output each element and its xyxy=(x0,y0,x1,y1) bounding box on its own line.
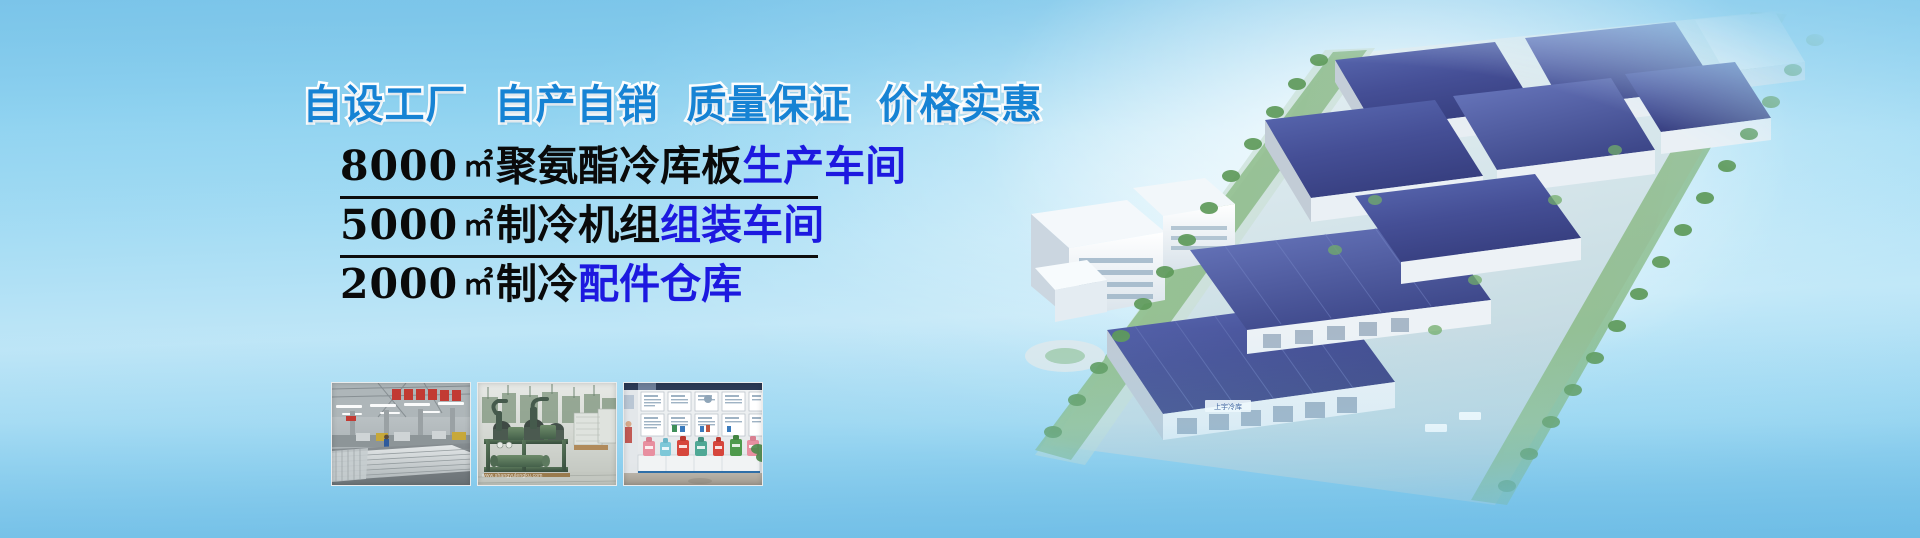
feature-3-unit: ㎡ xyxy=(458,267,496,302)
feature-line-2: 5000㎡制冷机组组装车间 xyxy=(340,202,860,253)
feature-1-blue-text: 生产车间 xyxy=(742,142,906,190)
feature-divider-1 xyxy=(340,196,818,199)
feature-3-number: 2000 xyxy=(340,260,458,308)
feature-1-black-text: 聚氨酯冷库板 xyxy=(496,142,742,190)
photo-parts-warehouse xyxy=(623,382,763,486)
feature-list: 8000㎡聚氨酯冷库板生产车间 5000㎡制冷机组组装车间 2000㎡制冷配件仓… xyxy=(340,143,860,312)
feature-1-unit: ㎡ xyxy=(458,149,496,184)
feature-1-number: 8000 xyxy=(340,142,458,190)
feature-2-number: 5000 xyxy=(340,201,458,249)
feature-divider-2 xyxy=(340,255,818,258)
headline-segment-4: 价格实惠 xyxy=(879,72,1043,130)
svg-text:上宇冷库: 上宇冷库 xyxy=(1214,402,1242,411)
feature-2-blue-text: 组装车间 xyxy=(660,201,824,249)
feature-line-3: 2000㎡制冷配件仓库 xyxy=(340,261,860,312)
photo-panel-workshop xyxy=(331,382,471,486)
headline-segment-2: 自产自销 xyxy=(495,72,659,130)
headline-segment-3: 质量保证 xyxy=(687,72,851,130)
feature-2-black-text: 制冷机组 xyxy=(496,201,660,249)
photo-2-watermark: www.shangyulengku.com xyxy=(482,473,543,479)
headline-segment-1: 自设工厂 xyxy=(303,72,467,130)
promo-banner: 上宇冷库 自设工厂自产自销质量保证价格实惠 8000㎡聚氨酯冷库板生产车间 50… xyxy=(0,0,1920,538)
feature-3-black-text: 制冷 xyxy=(496,260,578,308)
feature-line-1: 8000㎡聚氨酯冷库板生产车间 xyxy=(340,143,860,194)
headline: 自设工厂自产自销质量保证价格实惠 xyxy=(0,72,1345,130)
feature-2-unit: ㎡ xyxy=(458,208,496,243)
photo-strip: www.shangyulengku.com xyxy=(331,382,763,486)
photo-compressor-units: www.shangyulengku.com xyxy=(477,382,617,486)
feature-3-blue-text: 配件仓库 xyxy=(578,260,742,308)
